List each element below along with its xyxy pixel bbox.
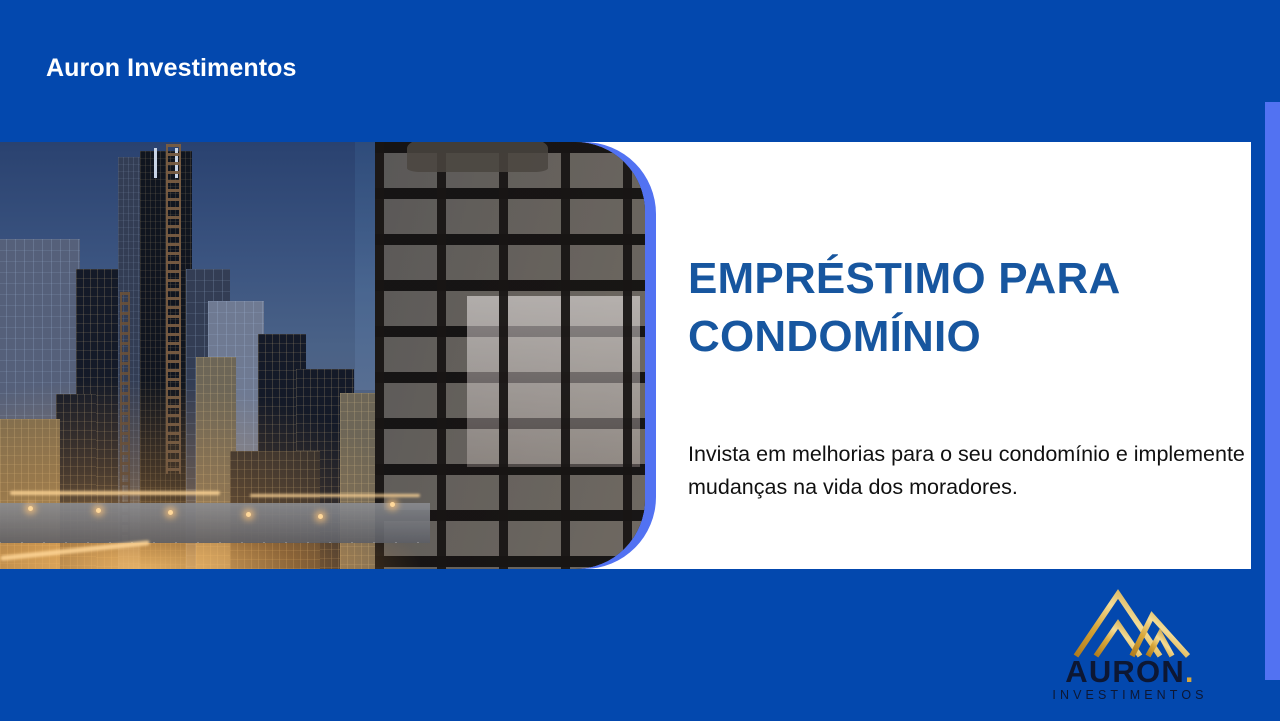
street-lamp [28,506,33,511]
hero-image [0,142,656,569]
light-streak [10,491,220,495]
construction-roof [407,142,547,172]
antenna-icon [154,148,157,178]
logo-wordmark-text: AURON [1065,654,1185,689]
logo: AURON. INVESTIMENTOS [1030,588,1230,708]
slide-canvas: Auron Investimentos [0,0,1280,721]
bridge [0,503,430,543]
crane-icon [166,144,181,474]
bridge-truss [0,503,430,543]
right-accent-bar [1265,102,1280,680]
logo-tagline: INVESTIMENTOS [1030,688,1230,702]
logo-wordmark: AURON. [1030,654,1230,690]
page-title: Auron Investimentos [46,54,297,83]
mountain-peaks-icon [1072,588,1192,658]
street-lamp [318,514,323,519]
headline: EMPRÉSTIMO PARA CONDOMÍNIO [688,250,1208,366]
street-lamp [390,502,395,507]
hero-image-inner [0,142,645,569]
logo-dot: . [1185,654,1195,689]
light-streak [250,494,420,497]
street-lamp [96,508,101,513]
street-lamp [246,512,251,517]
street-lamp [168,510,173,515]
subheadline: Invista em melhorias para o seu condomín… [688,438,1248,505]
